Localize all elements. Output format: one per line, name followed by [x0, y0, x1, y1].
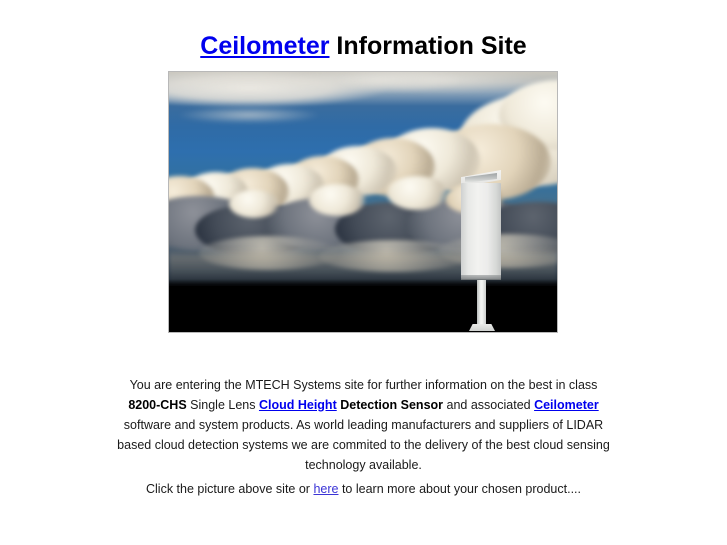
intro-line-1: You are entering the MTECH Systems site …: [130, 378, 598, 392]
intro-seg-2: Single Lens: [187, 398, 259, 412]
intro-paragraph: You are entering the MTECH Systems site …: [112, 375, 615, 475]
title-ceilometer-link[interactable]: Ceilometer: [200, 32, 329, 60]
cirrus-wisp: [169, 100, 359, 130]
ceilometer-body-link[interactable]: Ceilometer: [534, 398, 599, 412]
cumulus-highlight: [229, 190, 279, 218]
instrument-body: [461, 183, 501, 279]
cta-before-text: Click the picture above site or: [146, 482, 313, 496]
ceilometer-photo: [169, 72, 557, 332]
cta-after-text: to learn more about your chosen product.…: [338, 482, 581, 496]
cumulus-highlight: [387, 176, 447, 210]
cta-paragraph: Click the picture above site or here to …: [112, 479, 615, 499]
model-number: 8200-CHS: [128, 398, 186, 412]
cloud-height-link[interactable]: Cloud Height: [259, 398, 337, 412]
instrument-post: [477, 280, 486, 326]
intro-seg-4: and associated: [443, 398, 534, 412]
cumulus-highlight: [309, 184, 365, 216]
page-title-rest: Information Site: [329, 32, 526, 60]
intro-seg-5: software and system products. As world l…: [117, 418, 610, 472]
page-title: Ceilometer Information Site: [0, 31, 727, 61]
cta-here-link[interactable]: here: [313, 482, 338, 496]
detection-sensor-text: Detection Sensor: [340, 398, 443, 412]
ceilometer-photo-link[interactable]: [168, 71, 558, 333]
instrument-base: [469, 324, 495, 331]
ceilometer-instrument: [459, 170, 505, 332]
